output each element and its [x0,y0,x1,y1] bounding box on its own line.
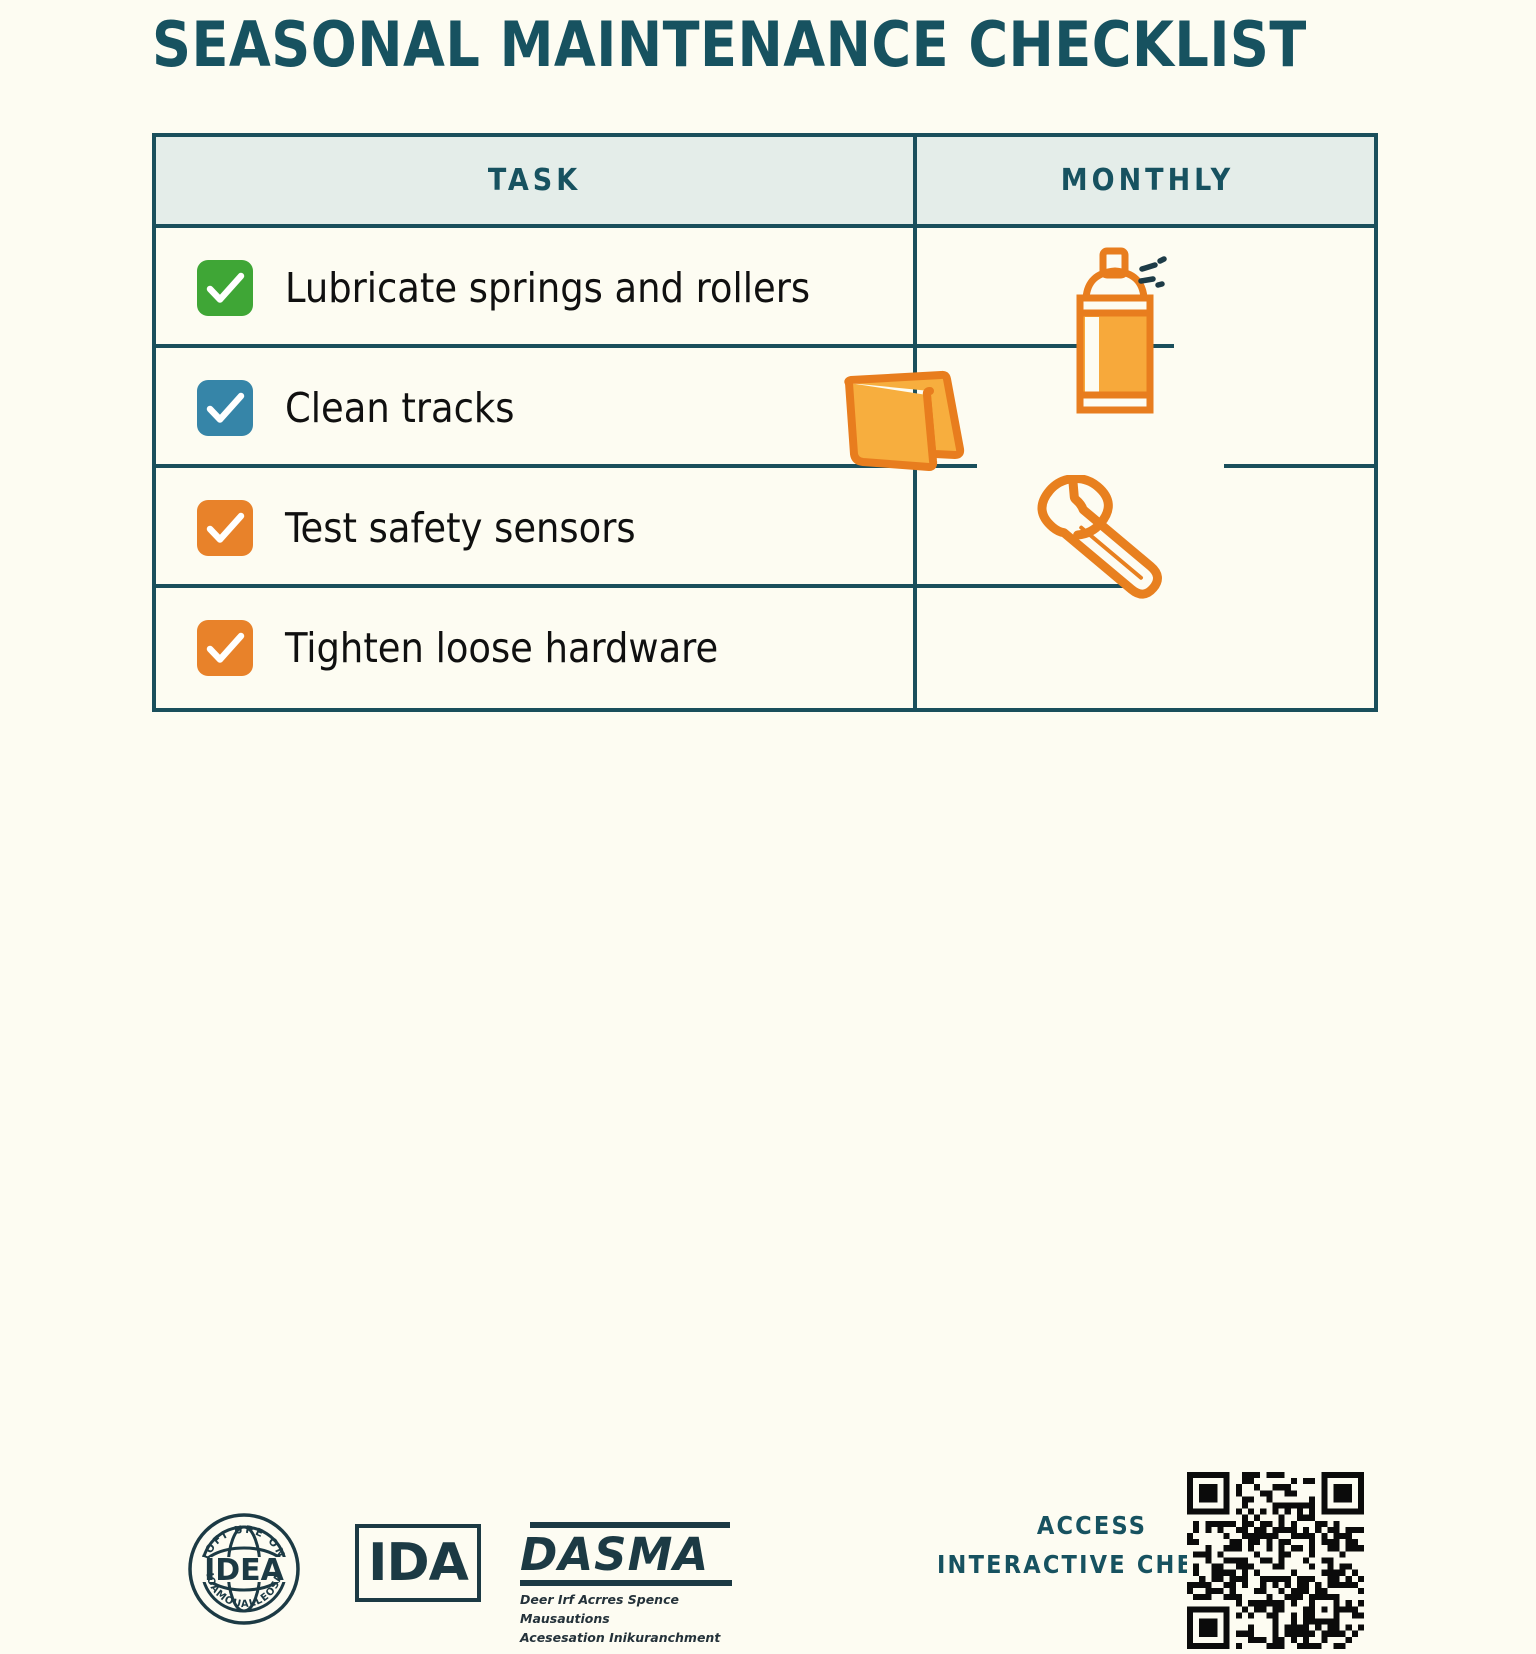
qr-caption-line-2: INTERACTIVE CHECKLIST [937,1546,1177,1585]
checkbox-lubricate-springs-and-rollers[interactable] [197,260,253,316]
idea-logo: IDEA IOFI UPE ON IOAMOUALLEOSA [188,1513,300,1625]
page-title: SEASONAL MAINTENANCE CHECKLIST [152,14,1307,76]
ida-logo: IDA [355,1524,481,1602]
dasma-rule-top [530,1522,730,1528]
task-label: Test safety sensors [285,504,636,552]
check-icon [197,380,253,436]
qr-code[interactable] [1187,1472,1364,1649]
dasma-subtitle-line-2: Acesesation Inikuranchment [520,1629,735,1648]
cloth-icon [819,361,994,486]
footer: IDEA IOFI UPE ON IOAMOUALLEOSA IDA DASMA… [0,735,1536,921]
task-label: Clean tracks [285,384,514,432]
dasma-subtitle-line-1: Deer Irf Acrres Spence Mausautions [520,1591,735,1629]
check-icon [197,260,253,316]
ida-logo-text: IDA [368,1533,468,1593]
row-separator-2-right-b [1224,464,1378,468]
table-row[interactable]: Tighten loose hardware [156,588,913,708]
task-label: Tighten loose hardware [285,624,718,672]
wrench-icon [1000,475,1190,625]
checkbox-test-safety-sensors[interactable] [197,500,253,556]
dasma-logo-text: DASMA [520,1531,735,1578]
table-row[interactable]: Clean tracks [156,348,913,468]
qr-caption-line-1: ACCESS [1007,1507,1177,1546]
table-row[interactable]: Lubricate springs and rollers [156,228,913,348]
dasma-subtitle: Deer Irf Acrres Spence Mausautions Acese… [520,1591,735,1647]
column-header-task: TASK [156,137,913,224]
check-icon [197,620,253,676]
checkbox-clean-tracks[interactable] [197,380,253,436]
check-icon [197,500,253,556]
dasma-rule-bottom [520,1580,732,1586]
spray-can-icon [1028,243,1218,423]
dasma-logo: DASMA Deer Irf Acrres Spence Mausautions… [520,1522,735,1648]
qr-caption: ACCESS INTERACTIVE CHECKLIST [1007,1507,1177,1585]
column-header-monthly: MONTHLY [917,137,1378,224]
checkbox-tighten-loose-hardware[interactable] [197,620,253,676]
table-header-row: TASK MONTHLY [156,137,1374,228]
task-label: Lubricate springs and rollers [285,264,810,312]
table-row[interactable]: Test safety sensors [156,468,913,588]
